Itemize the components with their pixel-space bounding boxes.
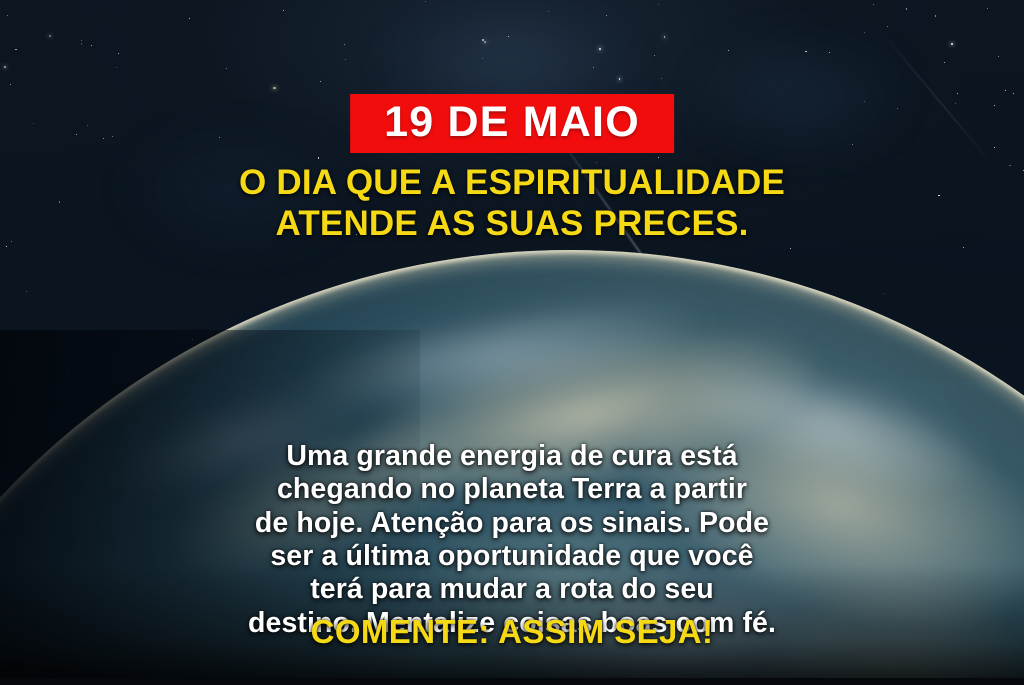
body-line-5: terá para mudar a rota do seu bbox=[56, 573, 968, 606]
headline: O DIA QUE A ESPIRITUALIDADE ATENDE AS SU… bbox=[0, 163, 1024, 245]
headline-line-2: ATENDE AS SUAS PRECES. bbox=[0, 204, 1024, 245]
poster-content: 19 DE MAIO O DIA QUE A ESPIRITUALIDADE A… bbox=[0, 0, 1024, 685]
date-banner-text: 19 DE MAIO bbox=[384, 101, 640, 144]
headline-line-1: O DIA QUE A ESPIRITUALIDADE bbox=[0, 163, 1024, 204]
body-line-1: Uma grande energia de cura está bbox=[56, 440, 968, 473]
body-line-2: chegando no planeta Terra a partir bbox=[56, 473, 968, 506]
body-line-4: ser a última oportunidade que você bbox=[56, 540, 968, 573]
poster-image: 19 DE MAIO O DIA QUE A ESPIRITUALIDADE A… bbox=[0, 0, 1024, 685]
call-to-action-text: COMENTE: ASSIM SEJA! bbox=[0, 614, 1024, 650]
bottom-edge-bar bbox=[0, 678, 1024, 685]
body-paragraph: Uma grande energia de cura está chegando… bbox=[56, 440, 968, 640]
date-banner: 19 DE MAIO bbox=[350, 94, 674, 153]
body-line-3: de hoje. Atenção para os sinais. Pode bbox=[56, 507, 968, 540]
